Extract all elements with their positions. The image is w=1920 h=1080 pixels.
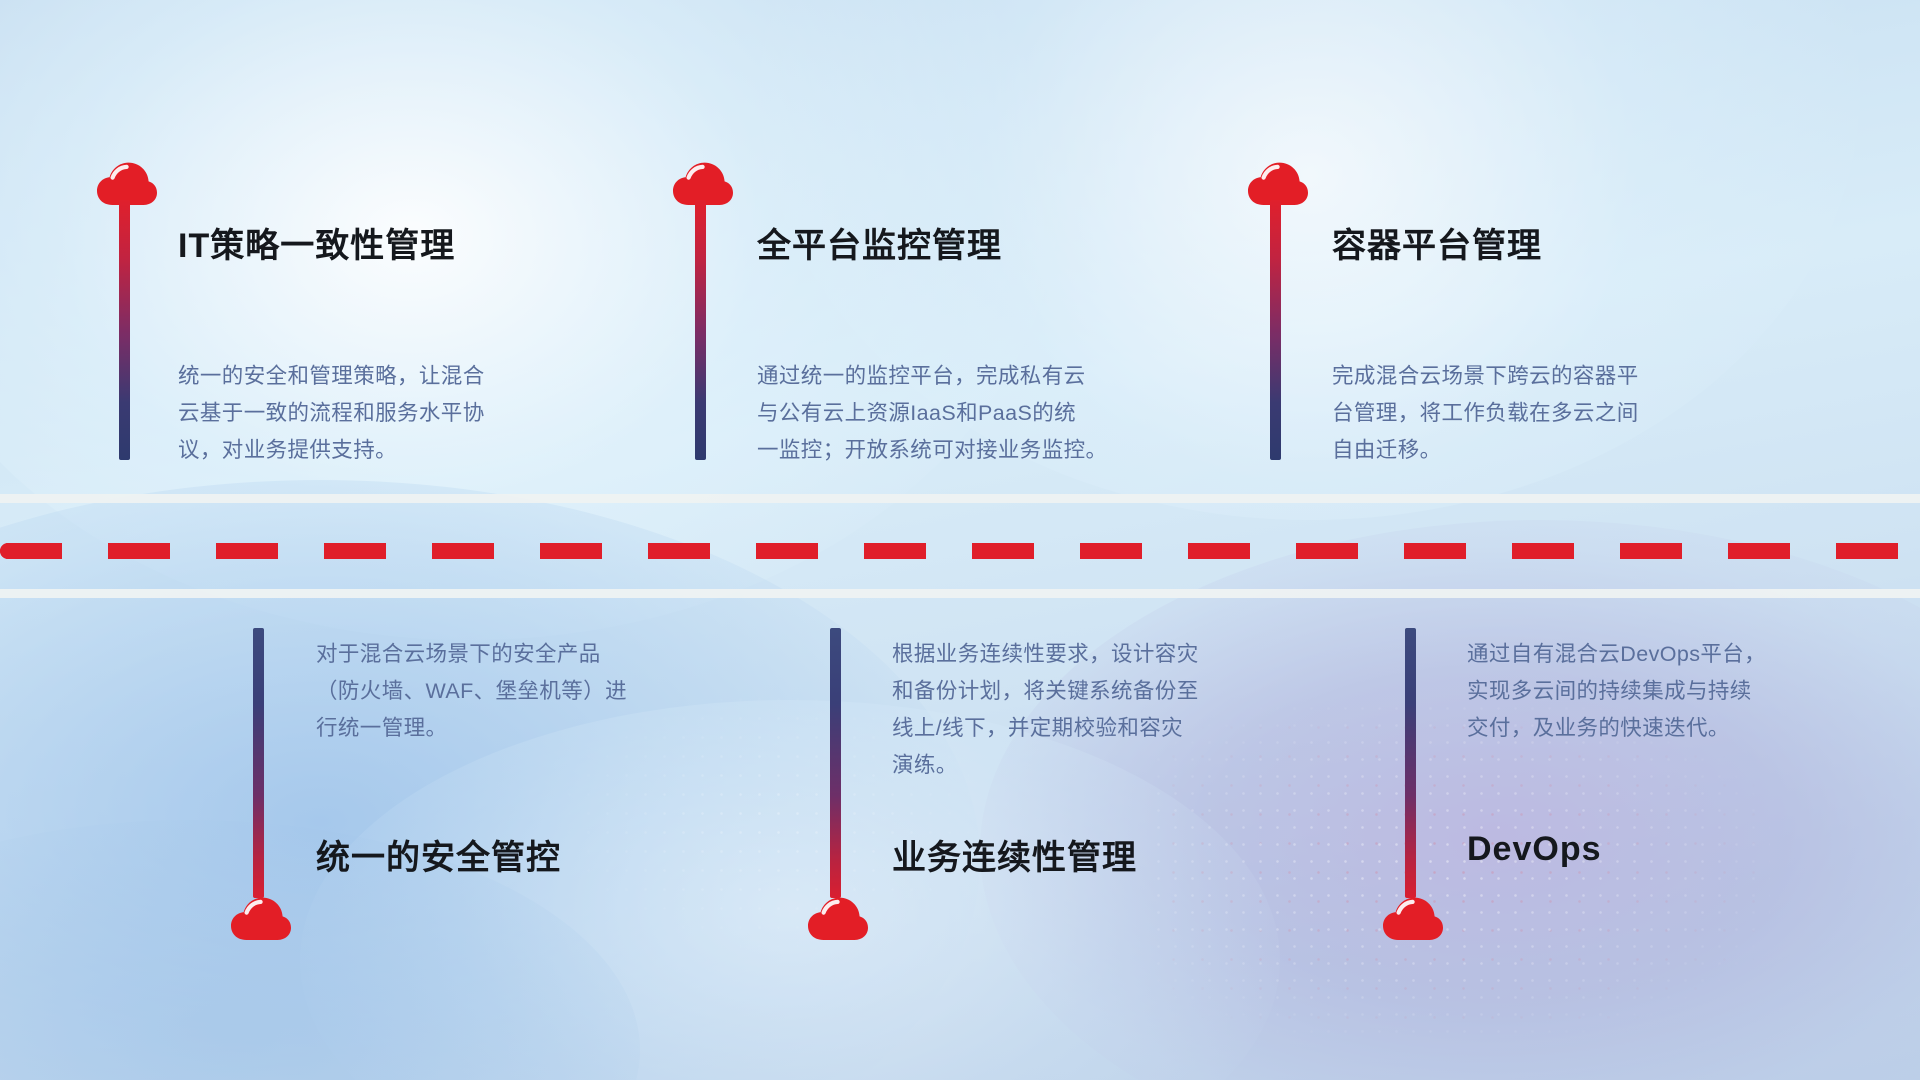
connector-stem bbox=[119, 200, 130, 460]
top-item-2-body: 通过统一的监控平台，完成私有云 与公有云上资源IaaS和PaaS的统 一监控；开… bbox=[757, 358, 1217, 469]
top-item-3-body: 完成混合云场景下跨云的容器平 台管理，将工作负载在多云之间 自由迁移。 bbox=[1332, 358, 1762, 469]
connector-stem bbox=[830, 628, 841, 898]
bottom-item-1-title: 统一的安全管控 bbox=[316, 830, 561, 879]
connector-stem bbox=[1405, 628, 1416, 898]
connector-stem bbox=[1270, 200, 1281, 460]
bottom-item-3-title: DevOps bbox=[1467, 830, 1602, 869]
top-item-2-title: 全平台监控管理 bbox=[757, 218, 1002, 267]
bottom-item-2-title: 业务连续性管理 bbox=[892, 830, 1137, 879]
cloud-icon bbox=[229, 895, 293, 943]
cloud-icon bbox=[1381, 895, 1445, 943]
road-edge-bottom bbox=[0, 589, 1920, 598]
bottom-item-1-body: 对于混合云场景下的安全产品 （防火墙、WAF、堡垒机等）进 行统一管理。 bbox=[316, 636, 746, 747]
infographic-canvas: IT策略一致性管理 统一的安全和管理策略，让混合 云基于一致的流程和服务水平协 … bbox=[0, 0, 1920, 1080]
road-edge-top bbox=[0, 494, 1920, 503]
top-item-1-title: IT策略一致性管理 bbox=[178, 218, 455, 267]
top-item-1-body: 统一的安全和管理策略，让混合 云基于一致的流程和服务水平协 议，对业务提供支持。 bbox=[178, 358, 608, 469]
top-item-3-title: 容器平台管理 bbox=[1332, 218, 1542, 267]
bottom-item-3-body: 通过自有混合云DevOps平台， 实现多云间的持续集成与持续 交付，及业务的快速… bbox=[1467, 636, 1897, 747]
connector-stem bbox=[695, 200, 706, 460]
bottom-item-2-body: 根据业务连续性要求，设计容灾 和备份计划，将关键系统备份至 线上/线下，并定期校… bbox=[892, 636, 1332, 784]
road-dashed-centerline bbox=[0, 543, 1920, 559]
connector-stem bbox=[253, 628, 264, 898]
cloud-icon bbox=[806, 895, 870, 943]
